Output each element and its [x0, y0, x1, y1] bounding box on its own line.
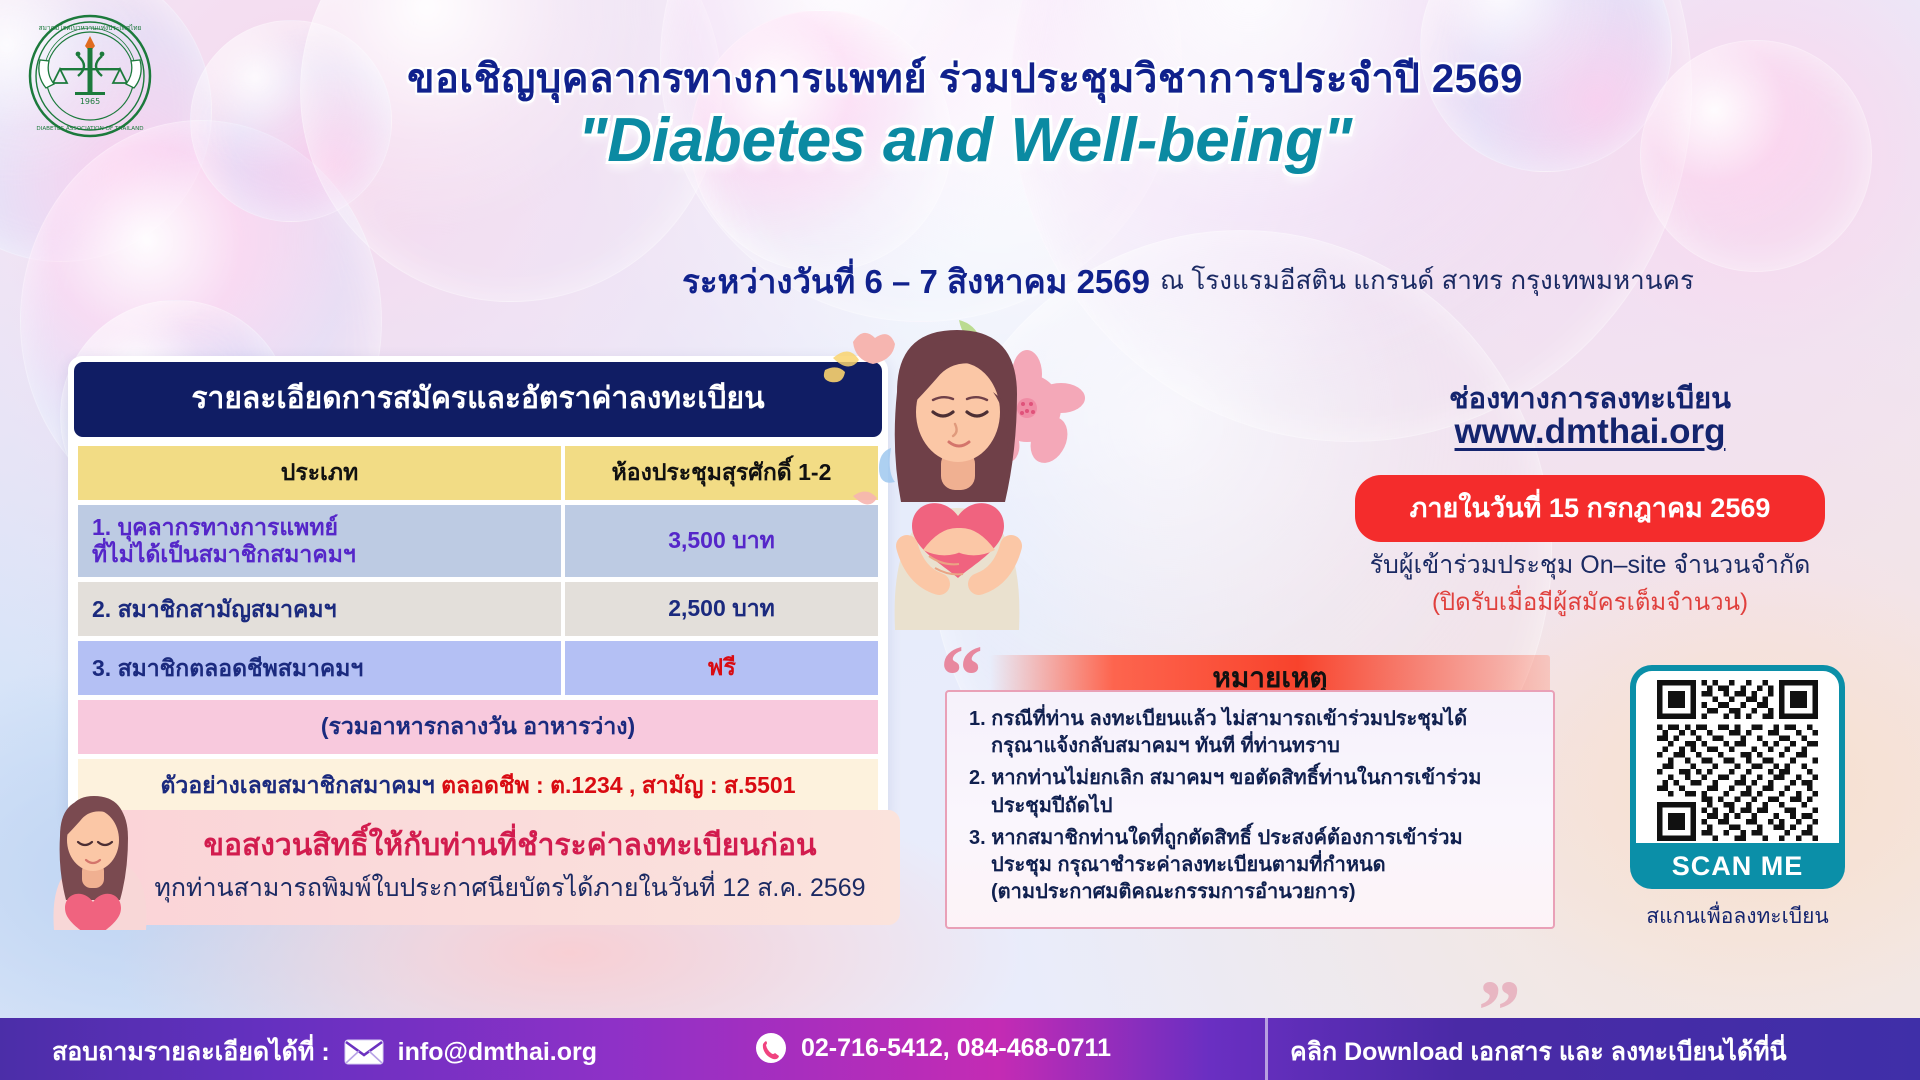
fee-row-label: 2. สมาชิกสามัญสมาคมฯ — [92, 596, 547, 623]
column-header-type: ประเภท — [78, 446, 561, 500]
fee-row-label: 1. บุคลากรทางการแพทย์ — [92, 514, 547, 541]
footer-contact-group: สอบถามรายละเอียดได้ที่ : info@dmthai.org — [52, 1032, 597, 1072]
footer-phone-group: 02-716-5412, 084-468-0711 — [755, 1032, 1111, 1064]
invite-headline: ขอเชิญบุคลากรทางการแพทย์ ร่วมประชุมวิชาก… — [250, 46, 1680, 110]
member-number-example-row: ตัวอย่างเลขสมาชิกสมาคมฯ ตลอดชีพ : ต.1234… — [78, 759, 878, 813]
reserve-rights-line2: ทุกท่านสามารถพิมพ์ใบประกาศนียบัตรได้ภายใ… — [130, 868, 890, 908]
fee-table-title: รายละเอียดการสมัครและอัตราค่าลงทะเบียน — [74, 362, 882, 437]
note-line: ประชุม กรุณาชำระค่าลงทะเบียนตามที่กำหนด — [969, 852, 1537, 879]
registration-url-link[interactable]: www.dmthai.org — [1330, 412, 1850, 452]
reserve-rights-line1: ขอสงวนสิทธิ์ให้กับท่านที่ชำระค่าลงทะเบีย… — [130, 822, 890, 869]
note-line: (ตามประกาศมติคณะกรรมการอำนวยการ) — [969, 879, 1537, 906]
registration-closing-note: (ปิดรับเมื่อมีผู้สมัครเต็มจำนวน) — [1320, 582, 1860, 621]
qr-code-icon[interactable] — [1645, 680, 1830, 841]
note-line: 3. หากสมาชิกท่านใดที่ถูกตัดสิทธิ์ ประสงค… — [969, 825, 1537, 852]
footer-bar: สอบถามรายละเอียดได้ที่ : info@dmthai.org… — [0, 1018, 1920, 1080]
svg-text:สมาคมโรคเบาหวานแห่งประเทศไทย: สมาคมโรคเบาหวานแห่งประเทศไทย — [39, 24, 142, 32]
list-item: 1. กรณีที่ท่าน ลงทะเบียนแล้ว ไม่สามารถเข… — [969, 706, 1537, 760]
table-row: 1. บุคลากรทางการแพทย์ ที่ไม่ได้เป็นสมาชิ… — [78, 505, 878, 577]
phone-icon — [755, 1032, 787, 1064]
lunch-note: (รวมอาหารกลางวัน อาหารว่าง) — [78, 700, 878, 754]
fee-row-label-2: ที่ไม่ได้เป็นสมาชิกสมาคมฯ — [92, 541, 547, 568]
qr-caption: สแกนเพื่อลงทะเบียน — [1600, 900, 1875, 933]
note-line: 2. หากท่านไม่ยกเลิก สมาคมฯ ขอตัดสิทธิ์ท่… — [969, 765, 1537, 792]
fee-row-price: ฟรี — [565, 641, 878, 695]
note-line: 1. กรณีที่ท่าน ลงทะเบียนแล้ว ไม่สามารถเข… — [969, 706, 1537, 733]
footer-email[interactable]: info@dmthai.org — [398, 1038, 597, 1067]
poster-canvas: 1965 สมาคมโรคเบาหวานแห่งประเทศไทย DIABET… — [0, 0, 1920, 1080]
conference-title: "Diabetes and Well-being" — [250, 105, 1680, 176]
footer-contact-label: สอบถามรายละเอียดได้ที่ : — [52, 1032, 330, 1072]
footer-divider — [1265, 1018, 1268, 1080]
woman-with-heart-illustration — [795, 300, 1125, 630]
fee-row-label: 3. สมาชิกตลอดชีพสมาคมฯ — [92, 655, 547, 682]
registration-deadline-badge: ภายในวันที่ 15 กรกฎาคม 2569 — [1355, 475, 1825, 542]
conference-venue: ณ โรงแรมอีสติน แกรนด์ สาทร กรุงเทพมหานคร — [1160, 260, 1780, 301]
note-line: ประชุมปีถัดไป — [969, 793, 1537, 820]
note-line: กรุณาแจ้งกลับสมาคมฯ ทันที ที่ท่านทราบ — [969, 733, 1537, 760]
footer-download-link[interactable]: คลิก Download เอกสาร และ ลงทะเบียนได้ที่… — [1290, 1032, 1787, 1072]
list-item: 3. หากสมาชิกท่านใดที่ถูกตัดสิทธิ์ ประสงค… — [969, 825, 1537, 907]
envelope-icon — [344, 1038, 384, 1066]
footer-phone[interactable]: 02-716-5412, 084-468-0711 — [801, 1034, 1111, 1063]
example-prefix: ตัวอย่างเลขสมาชิกสมาคมฯ — [161, 772, 442, 798]
qr-code-frame — [1630, 665, 1845, 850]
table-header-row: ประเภท ห้องประชุมสุรศักดิ์ 1-2 — [78, 446, 878, 500]
fee-table: ประเภท ห้องประชุมสุรศักดิ์ 1-2 1. บุคลาก… — [74, 441, 882, 818]
svg-text:1965: 1965 — [80, 97, 100, 106]
association-logo-icon: 1965 สมาคมโรคเบาหวานแห่งประเทศไทย DIABET… — [26, 12, 154, 140]
notes-box: 1. กรณีที่ท่าน ลงทะเบียนแล้ว ไม่สามารถเข… — [945, 690, 1555, 929]
svg-text:DIABETES ASSOCIATION OF THAILA: DIABETES ASSOCIATION OF THAILAND — [36, 126, 143, 132]
scan-me-label: SCAN ME — [1630, 843, 1845, 889]
fee-table-card: รายละเอียดการสมัครและอัตราค่าลงทะเบียน ป… — [68, 356, 888, 826]
list-item: 2. หากท่านไม่ยกเลิก สมาคมฯ ขอตัดสิทธิ์ท่… — [969, 765, 1537, 819]
table-row: 3. สมาชิกตลอดชีพสมาคมฯ ฟรี — [78, 641, 878, 695]
lunch-note-row: (รวมอาหารกลางวัน อาหารว่าง) — [78, 700, 878, 754]
example-highlight: ตลอดชีพ : ต.1234 , สามัญ : ส.5501 — [441, 772, 795, 798]
table-row: 2. สมาชิกสามัญสมาคมฯ 2,500 บาท — [78, 582, 878, 636]
onsite-capacity-note: รับผู้เข้าร่วมประชุม On–site จำนวนจำกัด — [1320, 545, 1860, 585]
